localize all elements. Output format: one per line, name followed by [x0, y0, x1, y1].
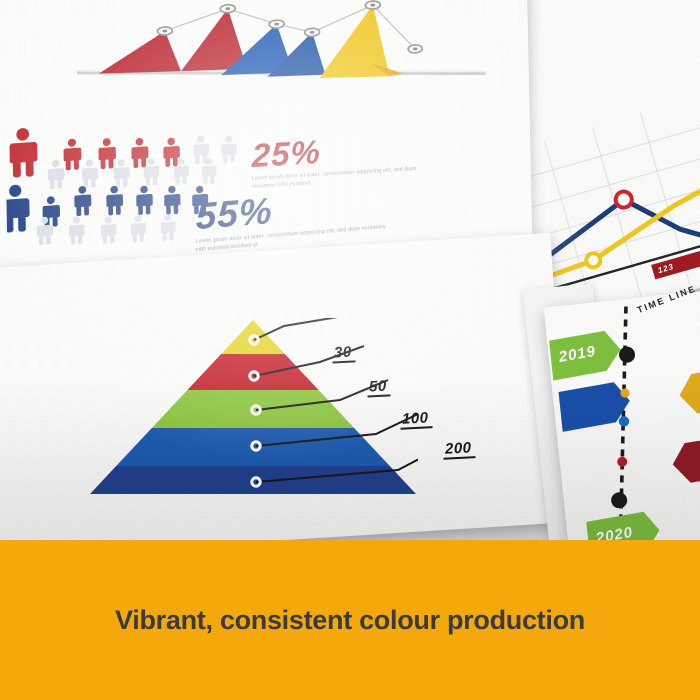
feature-banner: Vibrant, consistent colour production [0, 540, 700, 700]
pyramid-label-50: 50 [369, 378, 388, 396]
photo-backdrop: 123 [0, 0, 700, 540]
pyramid-label-200: 200 [445, 439, 472, 457]
stat-block-25: 25% Lorem ipsum dolor sit amet, consecte… [252, 128, 432, 191]
pyramid-label-30: 30 [334, 344, 353, 362]
pyramid-chart: 30 50 100 200 [88, 318, 418, 500]
banner-caption: Vibrant, consistent colour production [115, 605, 585, 636]
pyramid-label-100: 100 [402, 409, 429, 427]
product-feature-image: 123 [0, 0, 700, 700]
timeline-infographic: 2019 2020 TIME LINE [544, 290, 700, 540]
